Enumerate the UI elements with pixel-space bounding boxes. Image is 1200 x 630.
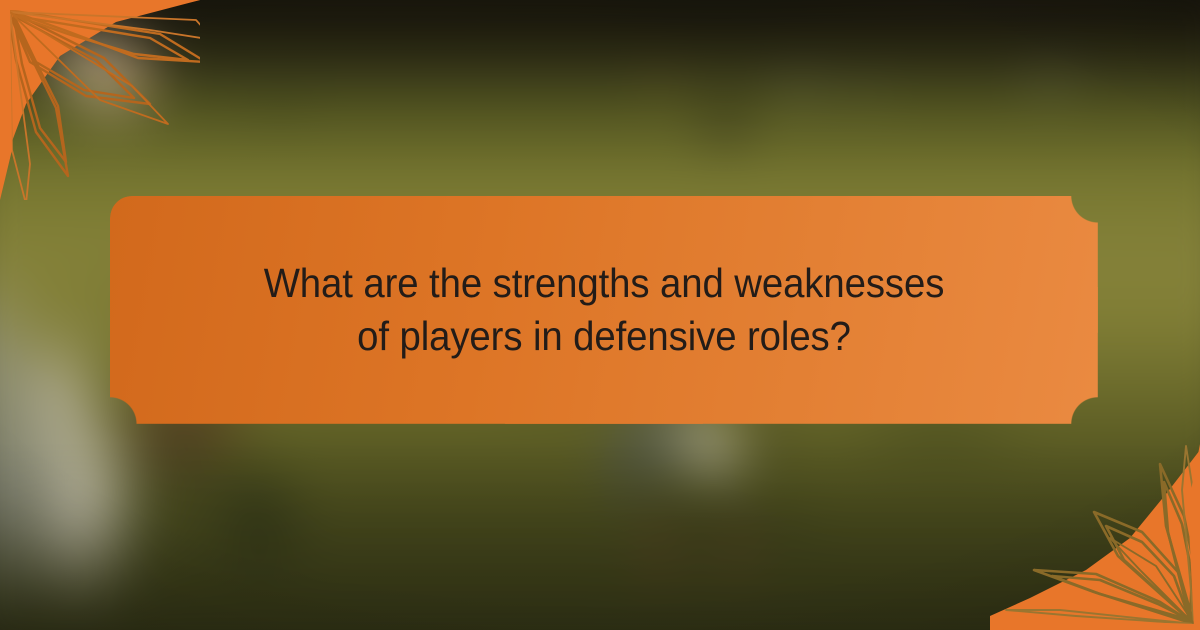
question-card: What are the strengths and weaknesses of…: [110, 196, 1098, 424]
social-card-canvas: What are the strengths and weaknesses of…: [0, 0, 1200, 630]
fan-leaf-ornament-top-left: [0, 0, 200, 200]
question-text: What are the strengths and weaknesses of…: [249, 257, 960, 364]
fan-leaf-ornament-bottom-right: [990, 420, 1200, 630]
